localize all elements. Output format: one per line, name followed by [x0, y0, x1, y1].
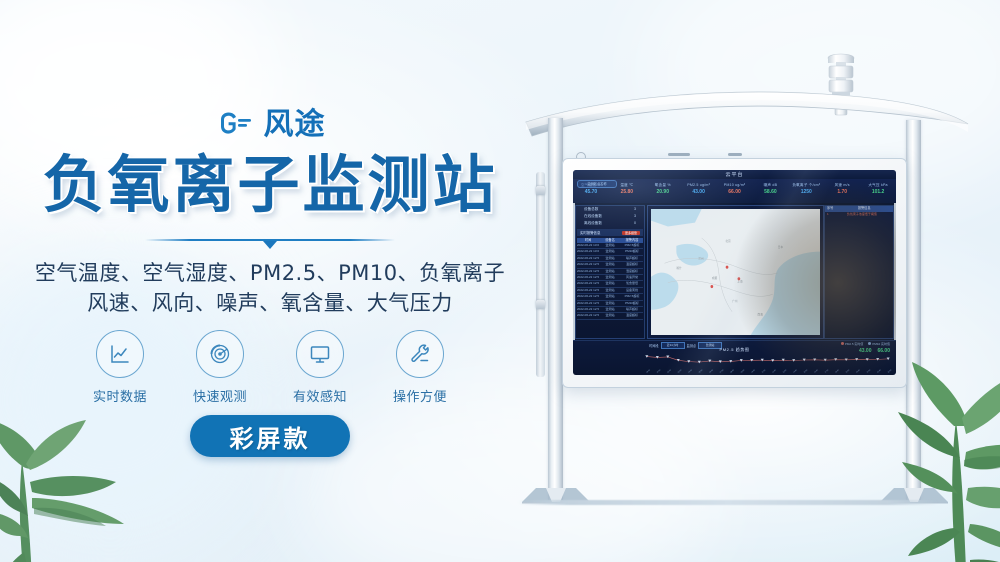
kpi-item: 大气压 kPa101.2	[860, 179, 896, 203]
table-cell: 氧含量低	[621, 281, 643, 286]
screen-header: 云平台	[573, 170, 896, 179]
table-cell: 监测站	[599, 262, 621, 267]
model-badge-button[interactable]: 彩屏款	[190, 415, 350, 457]
monitor-icon	[296, 330, 344, 378]
stat-row: 离线设备数0	[576, 220, 644, 227]
wind-cloud-logo-icon	[215, 110, 255, 140]
subtitle-line-2: 风速、风向、噪声、氧含量、大气压力	[0, 288, 540, 318]
trend-chart: 00:0001:0002:0003:0004:0005:0006:0007:00…	[643, 352, 892, 374]
svg-text:11:00: 11:00	[762, 369, 766, 373]
table-row[interactable]: 2022-06-22 12:50:30监测站温度超标	[577, 313, 643, 319]
station-tag-label: 监测站点名称	[578, 181, 616, 187]
table-cell: 温度超标	[621, 313, 643, 318]
table-cell: PM2.5超标	[621, 294, 643, 299]
svg-text:13:00: 13:00	[783, 369, 788, 373]
alarm-panel-title: 实时报警信息	[580, 230, 600, 235]
svg-text:15:00: 15:00	[804, 369, 809, 373]
alarm-panel-header: 实时报警信息 更多报警	[577, 229, 643, 236]
kpi-value: 43.00	[681, 188, 717, 197]
screen-title: 云平台	[573, 171, 896, 178]
stat-row: 设备总数3	[576, 206, 644, 213]
product-photo: 云平台 空气湿度 %45.70温度 ℃25.80氧含量 %20.90PM2.5 …	[500, 0, 1000, 562]
table-cell: 温度超标	[621, 262, 643, 267]
station-tag[interactable]: 监测站点名称	[577, 180, 617, 188]
kpi-item: 风速 m/s1.70	[824, 179, 860, 203]
legend-entry: PM10 实时值	[868, 342, 890, 346]
feature-label: 操作方便	[389, 386, 451, 405]
table-cell: 2022-06-22 12:59:30	[577, 256, 599, 261]
kpi-item: 噪声 dB58.60	[752, 179, 788, 203]
stat-row: 在线设备数3	[576, 213, 644, 220]
dashboard-screen[interactable]: 云平台 空气湿度 %45.70温度 ℃25.80氧含量 %20.90PM2.5 …	[573, 170, 896, 375]
svg-text:21:00: 21:00	[867, 369, 872, 373]
feature-label: 快速观测	[189, 386, 251, 405]
table-cell: 监测站	[599, 281, 621, 286]
table-cell: 监测站	[599, 313, 621, 318]
feature-list: 实时数据 快速观测	[0, 330, 540, 405]
table-cell: 监测站	[599, 243, 621, 248]
table-cell: 监测站	[599, 294, 621, 299]
right-panel-body: 1负氧离子浓度低于阈值	[825, 212, 893, 218]
kpi-value: 25.80	[609, 188, 645, 197]
svg-text:06:00: 06:00	[709, 369, 714, 373]
svg-text:03:00: 03:00	[678, 369, 683, 373]
svg-text:01:00: 01:00	[657, 369, 662, 373]
svg-text:05:00: 05:00	[699, 369, 704, 373]
legend-entry: PM2.5 实时值	[841, 342, 864, 346]
lock-icon[interactable]	[536, 300, 545, 309]
right-alarm-panel: 序号报警信息 1负氧离子浓度低于阈值	[824, 205, 894, 339]
brand-logo: 风途	[0, 104, 540, 146]
table-cell: 噪声超标	[621, 307, 643, 312]
stat-label: 离线设备数	[584, 221, 602, 226]
table-cell: 风速异常	[621, 275, 643, 280]
table-cell: PM2.5超标	[621, 243, 643, 248]
model-badge-label: 彩屏款	[230, 419, 311, 454]
svg-text:22:00: 22:00	[877, 369, 882, 373]
feature-item-effective-sensing: 有效感知	[289, 330, 351, 405]
stat-label: 在线设备数	[584, 214, 602, 219]
table-cell: 2022-06-22 12:52:30	[577, 301, 599, 306]
divider-triangle-icon	[263, 241, 277, 249]
title-divider	[145, 236, 395, 248]
svg-text:18:00: 18:00	[835, 369, 840, 373]
list-cell: 负氧离子浓度低于阈值	[831, 212, 893, 218]
brand-name: 风途	[264, 110, 326, 140]
kpi-value: 45.70	[573, 188, 609, 197]
kpi-item: PM2.5 ug/m³43.00	[681, 179, 717, 203]
map-panel[interactable]: 北京兰州 喀什成都 上海广州 日本南海	[647, 205, 824, 339]
svg-text:12:00: 12:00	[772, 369, 777, 373]
alarm-table-body: 2022-06-22 13:01:30监测站PM2.5超标2022-06-22 …	[576, 243, 644, 320]
table-cell: 2022-06-22 13:01:30	[577, 243, 599, 248]
feature-label: 有效感知	[289, 386, 351, 405]
promotional-banner: 风途 负氧离子监测站 空气温度、空气湿度、PM2.5、PM10、负氧离子 风速、…	[0, 0, 1000, 562]
feature-item-realtime-data: 实时数据	[89, 330, 151, 405]
kpi-item: 氧含量 %20.90	[645, 179, 681, 203]
table-cell: 2022-06-22 12:58:30	[577, 262, 599, 267]
svg-text:喀什: 喀什	[676, 265, 681, 270]
svg-text:02:00: 02:00	[667, 369, 672, 373]
kpi-bar: 空气湿度 %45.70温度 ℃25.80氧含量 %20.90PM2.5 ug/m…	[573, 179, 896, 203]
support-pole-left	[548, 118, 563, 500]
table-cell: 2022-06-22 12:54:30	[577, 288, 599, 293]
svg-text:14:00: 14:00	[793, 369, 798, 373]
hero-text-column: 风途 负氧离子监测站 空气温度、空气湿度、PM2.5、PM10、负氧离子 风速、…	[0, 0, 540, 562]
svg-text:17:00: 17:00	[825, 369, 830, 373]
svg-text:日本: 日本	[778, 244, 783, 249]
svg-text:16:00: 16:00	[814, 369, 819, 373]
svg-text:00:00: 00:00	[646, 369, 651, 373]
table-cell: 监测站	[599, 288, 621, 293]
list-item[interactable]: 1负氧离子浓度低于阈值	[825, 212, 893, 218]
svg-text:南海: 南海	[757, 311, 762, 316]
kpi-value: 1.70	[824, 188, 860, 197]
china-map-icon: 北京兰州 喀什成都 上海广州 日本南海	[651, 209, 820, 335]
stat-value: 3	[634, 207, 636, 212]
canopy-roof	[522, 88, 972, 158]
table-cell: 监测站	[599, 307, 621, 312]
subtitle: 空气温度、空气湿度、PM2.5、PM10、负氧离子 风速、风向、噪声、氧含量、大…	[0, 258, 540, 319]
ground-shadow	[518, 500, 938, 505]
table-cell: 2022-06-22 12:53:30	[577, 294, 599, 299]
table-cell: 2022-06-22 12:57:30	[577, 269, 599, 274]
table-cell: 监测站	[599, 275, 621, 280]
svg-text:19:00: 19:00	[846, 369, 851, 373]
legend-swatch	[841, 342, 844, 345]
kpi-item: PM10 ug/m³66.00	[717, 179, 753, 203]
table-cell: 监测站	[599, 301, 621, 306]
cabinet-door-edge	[536, 172, 545, 377]
svg-text:08:00: 08:00	[730, 369, 735, 373]
wrench-icon	[396, 330, 444, 378]
table-cell: 2022-06-22 12:56:30	[577, 275, 599, 280]
table-cell: 监测站	[599, 256, 621, 261]
table-cell: 2022-06-22 13:00:30	[577, 249, 599, 254]
legend-swatch	[868, 342, 871, 345]
page-title: 负氧离子监测站	[0, 154, 540, 216]
mount-bar	[728, 153, 742, 156]
alarm-more-badge[interactable]: 更多报警	[622, 231, 640, 235]
subtitle-line-1: 空气温度、空气湿度、PM2.5、PM10、负氧离子	[0, 258, 540, 288]
table-cell: 设备离线	[621, 288, 643, 293]
svg-text:兰州: 兰州	[698, 255, 703, 260]
table-cell: 2022-06-22 12:55:30	[577, 281, 599, 286]
table-cell: 2022-06-22 12:51:30	[577, 307, 599, 312]
radar-scan-icon	[196, 330, 244, 378]
stat-value: 3	[634, 214, 636, 219]
kpi-value: 1250	[788, 188, 824, 197]
svg-text:北京: 北京	[725, 238, 730, 243]
kpi-value: 66.00	[717, 188, 753, 197]
kpi-item: 负氧离子 个/cm³1250	[788, 179, 824, 203]
feature-item-fast-observation: 快速观测	[189, 330, 251, 405]
line-chart-icon	[96, 330, 144, 378]
kpi-value: 20.90	[645, 188, 681, 197]
display-cabinet: 云平台 空气湿度 %45.70温度 ℃25.80氧含量 %20.90PM2.5 …	[562, 158, 907, 388]
table-cell: 监测站	[599, 269, 621, 274]
table-cell: 监测站	[599, 249, 621, 254]
stat-value: 0	[634, 221, 636, 226]
svg-text:10:00: 10:00	[751, 369, 756, 373]
table-cell: 2022-06-22 12:50:30	[577, 313, 599, 318]
kpi-value: 101.2	[860, 188, 896, 197]
stat-label: 设备总数	[584, 207, 598, 212]
left-data-panel: 设备总数3在线设备数3离线设备数0 实时报警信息 更多报警 时间设备名报警内容 …	[575, 205, 645, 339]
device-stats: 设备总数3在线设备数3离线设备数0	[576, 206, 644, 227]
svg-text:09:00: 09:00	[741, 369, 746, 373]
svg-text:07:00: 07:00	[720, 369, 725, 373]
chart-legend: PM2.5 实时值PM10 实时值	[841, 342, 890, 346]
svg-text:04:00: 04:00	[688, 369, 693, 373]
table-cell: 湿度超标	[621, 269, 643, 274]
screen-body: 设备总数3在线设备数3离线设备数0 实时报警信息 更多报警 时间设备名报警内容 …	[573, 203, 896, 341]
table-cell: 噪声超标	[621, 256, 643, 261]
svg-text:20:00: 20:00	[856, 369, 861, 373]
feature-label: 实时数据	[89, 386, 151, 405]
kpi-value: 58.60	[752, 188, 788, 197]
svg-text:广州: 广州	[732, 298, 737, 303]
feature-item-easy-operation: 操作方便	[389, 330, 451, 405]
mount-bar	[668, 153, 690, 156]
table-cell: PM10超标	[621, 301, 643, 306]
svg-text:成都: 成都	[712, 275, 717, 280]
chart-footer: 时间段 近24小时 监测点 监测站 PM2.5 实时值PM10 实时值 43.0…	[573, 340, 896, 375]
support-pole-right	[906, 120, 921, 500]
hinge-icon	[536, 186, 545, 195]
table-cell: PM10超标	[621, 249, 643, 254]
svg-text:23:00: 23:00	[888, 369, 892, 373]
